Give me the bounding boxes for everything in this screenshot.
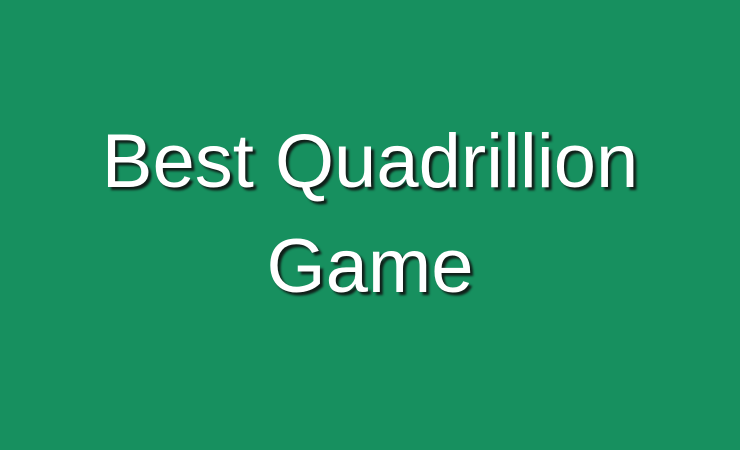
page-title-line-2: Game	[24, 214, 716, 319]
page-title: Best Quadrillion Game	[24, 109, 716, 319]
title-block: Best Quadrillion Game	[0, 109, 740, 319]
banner-container: Best Quadrillion Game	[0, 0, 740, 450]
page-title-line-1: Best Quadrillion	[24, 109, 716, 214]
